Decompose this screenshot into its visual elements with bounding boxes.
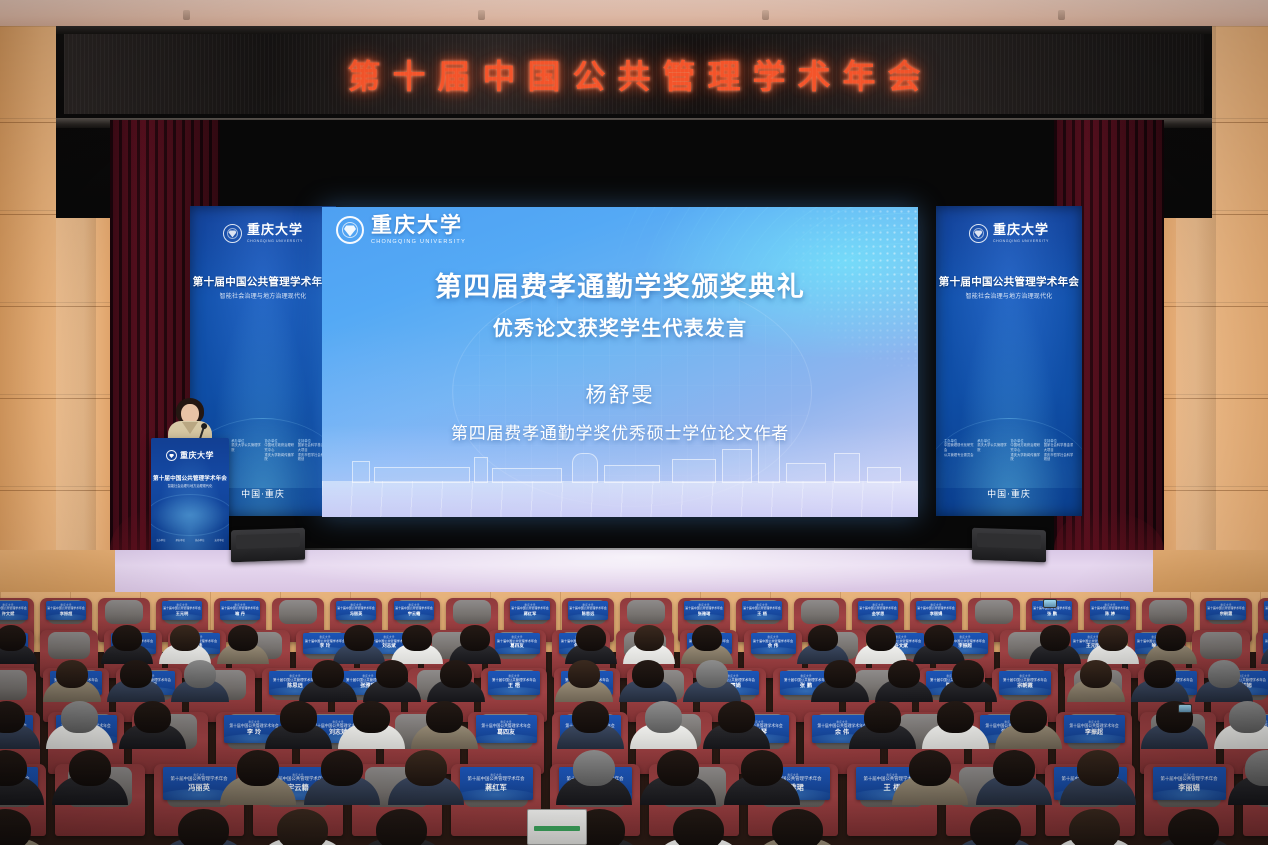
audience-member-head bbox=[808, 625, 837, 651]
placard-wave-graphic bbox=[495, 647, 540, 654]
proscenium-top-band bbox=[56, 26, 1212, 34]
seat-headrest bbox=[801, 600, 838, 625]
seat-name-placard: 重庆大学第十届中国公共管理学术年会王 梧 bbox=[488, 671, 540, 695]
attendee-phone-camera bbox=[1178, 704, 1192, 713]
audience-member-head bbox=[69, 750, 112, 786]
seat-headrest bbox=[48, 632, 90, 659]
org-line: 重庆大学新闻传播学院 bbox=[265, 453, 295, 462]
placard-wave-graphic bbox=[1206, 614, 1246, 620]
placard-wave-graphic bbox=[1153, 789, 1226, 800]
audience-member-head bbox=[634, 625, 663, 651]
placard-event-line: 第十届中国公共管理学术年会 bbox=[305, 640, 345, 643]
audience-member-head bbox=[344, 625, 373, 651]
audience-member-head bbox=[924, 625, 953, 651]
placard-wave-graphic bbox=[858, 614, 898, 620]
org-line: 公共管理专业委员会 bbox=[944, 453, 974, 458]
seat-name-placard: 重庆大学第十届中国公共管理学术年会余 伟 bbox=[751, 633, 796, 654]
seat-name-placard: 重庆大学第十届中国公共管理学术年会王 梧 bbox=[742, 601, 782, 620]
org-header: 协办单位 bbox=[195, 539, 205, 542]
org-line: 中国管理现代化研究会 bbox=[944, 443, 974, 452]
audience-member-head bbox=[277, 809, 327, 845]
cqu-logo-en: CHONGQING UNIVERSITY bbox=[371, 239, 466, 245]
podium-subtitle: 智能社会治理与地方治理现代化 bbox=[151, 483, 229, 488]
audience-member-head bbox=[573, 750, 616, 786]
placard-wave-graphic bbox=[742, 614, 782, 620]
org-header: 主办单位 bbox=[156, 539, 166, 542]
audience-member-head bbox=[909, 750, 952, 786]
audience-member-head bbox=[864, 701, 901, 732]
audience-member-head bbox=[178, 809, 228, 845]
seat-name-placard: 重庆大学第十届中国公共管理学术年会许文斌 bbox=[0, 601, 28, 620]
org-line: 中国地方政府治理研究中心 bbox=[265, 443, 295, 452]
audience-member-head bbox=[426, 701, 463, 732]
audience-member-head bbox=[866, 625, 895, 651]
ceiling-downlight bbox=[762, 10, 769, 20]
audience-member-head bbox=[824, 660, 856, 688]
org-header: 承办单位 bbox=[175, 539, 185, 542]
attendee-laptop bbox=[527, 809, 587, 845]
placard-wave-graphic bbox=[568, 614, 608, 620]
audience-member-head bbox=[405, 750, 448, 786]
audience-member-head bbox=[321, 750, 364, 786]
audience-member-head bbox=[673, 809, 723, 845]
led-banner-text: 第十届中国公共管理学术年会 bbox=[336, 50, 933, 98]
org-line: 重庆大学公共管理学院 bbox=[231, 443, 261, 452]
placard-wave-graphic bbox=[460, 789, 533, 800]
seat-name-placard: 重庆大学第十届中国公共管理学术年会王元明 bbox=[162, 601, 202, 620]
cqu-logo-cn: 重庆大学 bbox=[371, 215, 466, 236]
placard-wave-graphic bbox=[999, 687, 1051, 695]
seat-name-placard: 重庆大学第十届中国公共管理学术年会宗朝霞 bbox=[1206, 601, 1246, 620]
cqu-seal-icon bbox=[166, 450, 177, 461]
audience-member-head bbox=[134, 701, 171, 732]
audience-member-head bbox=[937, 701, 974, 732]
audience-member-head bbox=[184, 660, 216, 688]
placard-wave-graphic bbox=[476, 734, 537, 743]
cqu-logo: 重庆大学 CHONGQING UNIVERSITY bbox=[936, 224, 1082, 243]
cqu-seal-icon bbox=[336, 216, 364, 244]
audience-member-head bbox=[1010, 701, 1047, 732]
audience-member-head bbox=[376, 660, 408, 688]
seat-headrest bbox=[627, 600, 664, 625]
audience-member-head bbox=[1144, 660, 1176, 688]
placard-wave-graphic bbox=[336, 614, 376, 620]
placard-wave-graphic bbox=[751, 647, 796, 654]
seat-name-placard: 重庆大学第十届中国公共管理学术年会谢丽冬 bbox=[1264, 601, 1268, 620]
placard-wave-graphic bbox=[1032, 614, 1072, 620]
ceiling-downlight bbox=[478, 10, 485, 20]
seat-name-placard: 重庆大学第十届中国公共管理学术年会喻 丹 bbox=[220, 601, 260, 620]
seat-name-placard: 重庆大学第十届中国公共管理学术年会冯丽英 bbox=[336, 601, 376, 620]
audience-member-head bbox=[280, 701, 317, 732]
audience-member-head bbox=[440, 660, 472, 688]
audience-member-head bbox=[993, 750, 1036, 786]
slide-speaker-role: 第四届费孝通勤学奖优秀硕士学位论文作者 bbox=[322, 419, 918, 444]
led-marquee-banner: 第十届中国公共管理学术年会 bbox=[64, 34, 1204, 114]
stage-apron-left bbox=[0, 550, 115, 594]
cqu-logo: 重庆大学 CHONGQING UNIVERSITY bbox=[336, 215, 466, 245]
stage-monitor-speaker-right bbox=[972, 528, 1046, 563]
placard-wave-graphic bbox=[510, 614, 550, 620]
audience-member-head bbox=[1168, 809, 1218, 845]
cqu-logo-en: CHONGQING UNIVERSITY bbox=[993, 239, 1049, 243]
org-line: 中国地方政府治理研究中心 bbox=[1011, 443, 1041, 452]
ceiling-downlight bbox=[183, 10, 190, 20]
side-banner-subtitle: 智能社会治理与地方治理现代化 bbox=[190, 291, 336, 300]
audience-member-head bbox=[632, 660, 664, 688]
cqu-seal-icon bbox=[969, 224, 988, 243]
audience-member-head bbox=[376, 809, 426, 845]
org-header: 支持单位 bbox=[214, 539, 224, 542]
audience-member-head bbox=[970, 809, 1020, 845]
audience-member-head bbox=[460, 625, 489, 651]
side-banner-city: 中国·重庆 bbox=[936, 487, 1082, 500]
audience-member-head bbox=[1229, 701, 1266, 732]
audience-member-head bbox=[170, 625, 199, 651]
audience-member-head bbox=[402, 625, 431, 651]
seat-name-placard: 重庆大学第十届中国公共管理学术年会金学思 bbox=[858, 601, 898, 620]
audience-member-head bbox=[228, 625, 257, 651]
seat-name-placard: 重庆大学第十届中国公共管理学术年会陈 婷 bbox=[1090, 601, 1130, 620]
ceiling-downlight bbox=[1058, 10, 1065, 20]
cqu-logo-cn: 重庆大学 bbox=[180, 452, 214, 460]
placard-wave-graphic bbox=[162, 614, 202, 620]
audience-member-head bbox=[56, 660, 88, 688]
side-banner-title: 第十届中国公共管理学术年会 bbox=[936, 274, 1082, 289]
seat-name-placard: 重庆大学第十届中国公共管理学术年会蔣红军 bbox=[460, 767, 533, 800]
placard-event-line: 第十届中国公共管理学术年会 bbox=[229, 724, 278, 728]
ceiling bbox=[0, 0, 1268, 26]
audience-member-head bbox=[1156, 625, 1185, 651]
audience-member-head bbox=[952, 660, 984, 688]
cqu-seal-icon bbox=[223, 224, 242, 243]
seat-name-placard: 重庆大学第十届中国公共管理学术年会宗朝霞 bbox=[999, 671, 1051, 695]
seat-name-placard: 重庆大学第十届中国公共管理学术年会李振超 bbox=[1064, 715, 1125, 743]
placard-event-line: 第十届中国公共管理学术年会 bbox=[753, 640, 793, 643]
audience-member-head bbox=[888, 660, 920, 688]
seat-name-placard: 重庆大学第十届中国公共管理学术年会蔣红军 bbox=[510, 601, 550, 620]
org-line: 国家社会科学基金重大项目 bbox=[1044, 443, 1074, 452]
seat-headrest bbox=[1149, 600, 1186, 625]
placard-wave-graphic bbox=[684, 614, 724, 620]
slide-subtitle: 优秀论文获奖学生代表发言 bbox=[322, 312, 918, 341]
seat-headrest bbox=[453, 600, 490, 625]
stage-monitor-speaker-left bbox=[231, 528, 305, 563]
audience-member-head bbox=[1080, 660, 1112, 688]
seat-name-placard: 重庆大学第十届中国公共管理学术年会李振超 bbox=[46, 601, 86, 620]
seat-name-placard: 重庆大学第十届中国公共管理学术年会葛四友 bbox=[476, 715, 537, 743]
audience-area: 重庆大学第十届中国公共管理学术年会许文斌重庆大学第十届中国公共管理学术年会李振超… bbox=[0, 596, 1268, 845]
podium-lectern: 重庆大学 第十届中国公共管理学术年会 智能社会治理与地方治理现代化 主办单位 承… bbox=[151, 438, 229, 564]
placard-wave-graphic bbox=[46, 614, 86, 620]
audience-member-head bbox=[120, 660, 152, 688]
audience-member-head bbox=[312, 660, 344, 688]
audience-member-head bbox=[0, 625, 26, 651]
audience-member-head bbox=[1077, 750, 1120, 786]
seat-name-placard: 重庆大学第十届中国公共管理学术年会李丽娟 bbox=[1153, 767, 1226, 800]
main-led-screen: 重庆大学 CHONGQING UNIVERSITY 第四届费孝通勤学奖颁奖典礼 … bbox=[322, 207, 918, 517]
slide-title: 第四届费孝通勤学奖颁奖典礼 bbox=[322, 265, 918, 304]
org-line: 重庆市哲学社会科学规划 bbox=[1044, 453, 1074, 462]
placard-event-line: 第十届中国公共管理学术年会 bbox=[497, 640, 537, 643]
audience-member-head bbox=[572, 701, 609, 732]
seat-headrest bbox=[105, 600, 142, 625]
podium-orgs: 主办单位 承办单位 协办单位 支持单位 bbox=[156, 539, 224, 542]
audience-member-head bbox=[741, 750, 784, 786]
side-banner-subtitle: 智能社会治理与地方治理现代化 bbox=[936, 291, 1082, 300]
cqu-logo-en: CHONGQING UNIVERSITY bbox=[247, 239, 303, 243]
audience-member-head bbox=[237, 750, 280, 786]
audience-member-head bbox=[61, 701, 98, 732]
audience-member-head bbox=[568, 660, 600, 688]
seat-headrest bbox=[279, 600, 316, 625]
seat-name-placard: 重庆大学第十届中国公共管理学术年会陈思远 bbox=[568, 601, 608, 620]
stage-apron-right bbox=[1153, 550, 1268, 594]
audience-member-head bbox=[696, 660, 728, 688]
placard-event-line: 第十届中国公共管理学术年会 bbox=[1069, 724, 1118, 728]
stage-floor-glow bbox=[250, 548, 1030, 594]
seat-name-placard: 重庆大学第十届中国公共管理学术年会张雅珺 bbox=[684, 601, 724, 620]
placard-wave-graphic bbox=[1264, 614, 1268, 620]
cqu-logo: 重庆大学 CHONGQING UNIVERSITY bbox=[190, 224, 336, 243]
audience-member-head bbox=[1208, 660, 1240, 688]
plaza-ground-graphic bbox=[322, 481, 918, 517]
cqu-logo-cn: 重庆大学 bbox=[247, 224, 303, 237]
conference-hall-photo: 第十届中国公共管理学术年会 重庆大学 CHONGQING UNIVERSITY … bbox=[0, 0, 1268, 845]
audience-member-head bbox=[718, 701, 755, 732]
org-line: 重庆大学新闻传播学院 bbox=[1011, 453, 1041, 462]
cqu-logo: 重庆大学 bbox=[151, 450, 229, 461]
placard-wave-graphic bbox=[394, 614, 434, 620]
placard-wave-graphic bbox=[0, 614, 28, 620]
placard-event-line: 第十届中国公共管理学术年会 bbox=[481, 724, 530, 728]
audience-member-head bbox=[657, 750, 700, 786]
seat-name-placard: 重庆大学第十届中国公共管理学术年会李丽娟 bbox=[916, 601, 956, 620]
audience-member-head bbox=[1040, 625, 1069, 651]
seat-headrest bbox=[975, 600, 1012, 625]
seat-headrest bbox=[1200, 632, 1242, 659]
podium-wave-graphic bbox=[151, 494, 229, 536]
placard-wave-graphic bbox=[1090, 614, 1130, 620]
attendee-phone-camera bbox=[1043, 599, 1057, 608]
audience-member-head bbox=[692, 625, 721, 651]
org-line: 重庆大学公共管理学院 bbox=[977, 443, 1007, 452]
slide-speaker-name: 杨舒雯 bbox=[322, 379, 918, 409]
audience-member-head bbox=[645, 701, 682, 732]
audience-member-head bbox=[353, 701, 390, 732]
placard-wave-graphic bbox=[488, 687, 540, 695]
audience-member-head bbox=[112, 625, 141, 651]
audience-member-head bbox=[1069, 809, 1119, 845]
side-banner-orgs: 主办单位中国管理现代化研究会公共管理专业委员会 承办单位重庆大学公共管理学院 协… bbox=[944, 439, 1074, 462]
audience-member-head bbox=[576, 625, 605, 651]
podium-title: 第十届中国公共管理学术年会 bbox=[151, 474, 229, 482]
seat-headrest bbox=[0, 670, 27, 700]
side-banner-title: 第十届中国公共管理学术年会 bbox=[190, 274, 336, 289]
seat-name-placard: 重庆大学第十届中国公共管理学术年会宇云籍 bbox=[394, 601, 434, 620]
placard-wave-graphic bbox=[916, 614, 956, 620]
placard-wave-graphic bbox=[220, 614, 260, 620]
cqu-logo-cn: 重庆大学 bbox=[993, 224, 1049, 237]
audience-member-head bbox=[772, 809, 822, 845]
seat-name-placard: 重庆大学第十届中国公共管理学术年会葛四友 bbox=[495, 633, 540, 654]
audience-member-head bbox=[1098, 625, 1127, 651]
placard-wave-graphic bbox=[1064, 734, 1125, 743]
side-banner-right: 重庆大学 CHONGQING UNIVERSITY 第十届中国公共管理学术年会 … bbox=[936, 206, 1082, 516]
